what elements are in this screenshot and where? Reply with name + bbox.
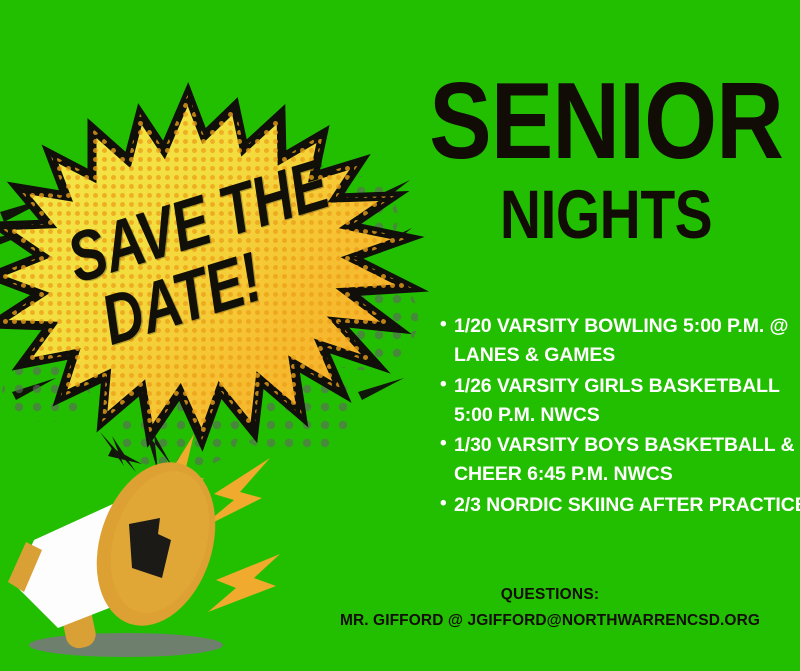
- contact-email-line: MR. GIFFORD @ JGIFFORD@NORTHWARRENCSD.OR…: [300, 612, 800, 630]
- bolt-icon-lower: [208, 554, 280, 612]
- list-item: 1/20 VARSITY BOWLING 5:00 P.M. @ LANES &…: [440, 312, 800, 370]
- flyer-canvas: SAVE THE DATE!: [0, 0, 800, 671]
- list-item: 1/30 VARSITY BOYS BASKETBALL & CHEER 6:4…: [440, 431, 800, 489]
- page-title-senior: SENIOR: [416, 74, 795, 170]
- footer-contact-block: QUESTIONS: MR. GIFFORD @ JGIFFORD@NORTHW…: [300, 586, 800, 630]
- page-title-nights: NIGHTS: [420, 185, 792, 247]
- list-item: 2/3 NORDIC SKIING AFTER PRACTICE: [440, 491, 800, 520]
- headline-block: SENIOR NIGHTS: [420, 74, 792, 236]
- megaphone-illustration: [8, 432, 288, 671]
- event-list: 1/20 VARSITY BOWLING 5:00 P.M. @ LANES &…: [418, 312, 800, 522]
- megaphone-shadow: [29, 633, 223, 657]
- burst-graphic-svg: [0, 92, 412, 472]
- megaphone-svg: [8, 432, 288, 671]
- save-the-date-burst: SAVE THE DATE!: [0, 92, 412, 472]
- list-item: 1/26 VARSITY GIRLS BASKETBALL 5:00 P.M. …: [440, 372, 800, 430]
- questions-label: QUESTIONS:: [300, 586, 800, 604]
- bolt-spark-black-1: [100, 432, 136, 472]
